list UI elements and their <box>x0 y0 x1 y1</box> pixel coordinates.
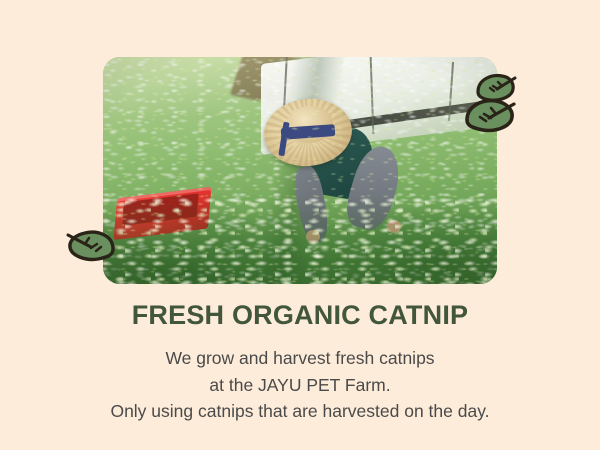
description-line: at the JAYU PET Farm. <box>0 372 600 399</box>
text-block: FRESH ORGANIC CATNIP We grow and harvest… <box>0 300 600 425</box>
leaf-icon <box>462 96 520 134</box>
description-line: Only using catnips that are harvested on… <box>0 398 600 425</box>
photo-vignette <box>103 57 497 284</box>
description: We grow and harvest fresh catnips at the… <box>0 345 600 425</box>
page-title: FRESH ORGANIC CATNIP <box>0 300 600 331</box>
farm-photo <box>103 57 497 284</box>
description-line: We grow and harvest fresh catnips <box>0 345 600 372</box>
promo-card: FRESH ORGANIC CATNIP We grow and harvest… <box>0 0 600 450</box>
leaf-icon <box>66 228 118 262</box>
